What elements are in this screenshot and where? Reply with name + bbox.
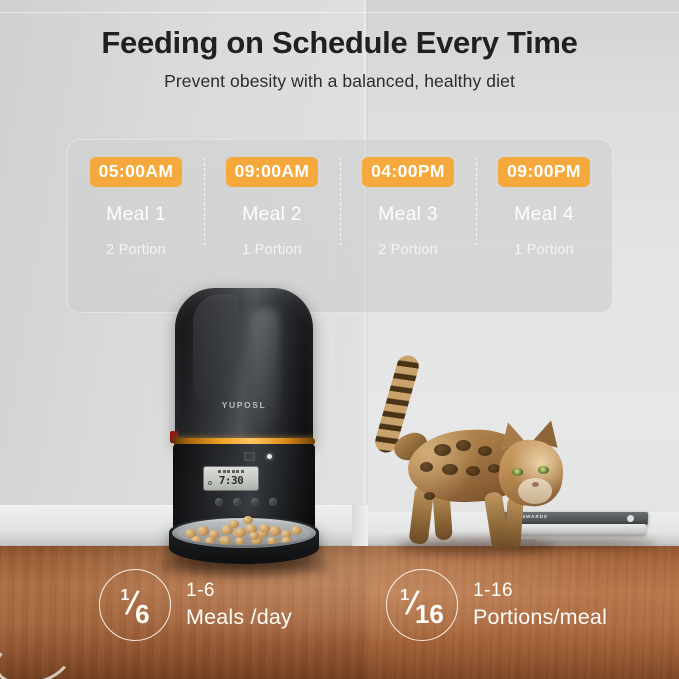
feature-text: 1-16 Portions/meal: [473, 579, 607, 630]
cat-spot: [420, 462, 433, 472]
portion-label: 1 Portion: [514, 242, 574, 258]
schedule-column-2: 09:00AM Meal 2 1 Portion: [204, 140, 340, 312]
page-subtitle: Prevent obesity with a balanced, healthy…: [0, 71, 679, 92]
feature-meals-per-day: 1 / 6 1-6 Meals /day: [99, 569, 292, 641]
time-badge: 05:00AM: [90, 157, 183, 187]
button-set[interactable]: [215, 498, 223, 506]
feature-portions-per-meal: 1 / 16 1-16 Portions/meal: [386, 569, 607, 641]
meal-label: Meal 1: [106, 203, 166, 226]
cat-spot: [442, 464, 458, 475]
feature-range: 1-6: [186, 579, 292, 602]
kibble-falling: [229, 520, 239, 528]
schedule-column-1: 05:00AM Meal 1 2 Portion: [68, 140, 204, 312]
cat-nose: [532, 482, 539, 487]
cat-eye-right: [538, 466, 549, 474]
portion-label: 2 Portion: [378, 242, 438, 258]
kibble-falling: [235, 528, 246, 537]
lcd-time-value: 7:30: [219, 474, 244, 487]
control-buttons[interactable]: [215, 498, 277, 506]
lcd-display: 7:30: [203, 466, 259, 491]
status-led-icon: [267, 454, 272, 459]
feature-unit: Portions/meal: [473, 604, 607, 630]
header: Feeding on Schedule Every Time Prevent o…: [0, 26, 679, 92]
cat-eye-left: [512, 468, 523, 476]
bengal-cat: [372, 352, 602, 564]
fraction: 1 / 6: [100, 570, 170, 640]
portion-label: 1 Portion: [242, 242, 302, 258]
fraction-circle: 1 / 6: [99, 569, 171, 641]
product-marketing-image: Feeding on Schedule Every Time Prevent o…: [0, 0, 679, 679]
meal-label: Meal 2: [242, 203, 302, 226]
baseboard-corner: [352, 505, 368, 546]
cat-spot: [456, 440, 471, 451]
cat-spot: [478, 446, 492, 456]
top-hairline: [0, 12, 679, 13]
page-title: Feeding on Schedule Every Time: [0, 26, 679, 60]
ir-sensor-icon: [244, 452, 255, 461]
button-plus[interactable]: [251, 498, 259, 506]
fraction-denominator: 16: [415, 599, 444, 630]
meal-label: Meal 3: [378, 203, 438, 226]
feature-text: 1-6 Meals /day: [186, 579, 292, 630]
feeder-hopper-lid: YUPOSL: [175, 288, 313, 444]
cat-spot: [434, 444, 451, 456]
lcd-segment-indicators: [218, 470, 244, 473]
fraction-denominator: 6: [135, 599, 149, 630]
kibble-falling: [243, 516, 253, 524]
schedule-column-3: 04:00PM Meal 3 2 Portion: [340, 140, 476, 312]
feature-range: 1-16: [473, 579, 607, 602]
cat-spot: [466, 466, 480, 476]
cat-spot: [424, 492, 435, 500]
book-dot-icon: [627, 515, 634, 522]
time-badge: 09:00PM: [498, 157, 590, 187]
time-badge: 04:00PM: [362, 157, 454, 187]
lid-highlight: [253, 308, 279, 428]
schedule-column-4: 09:00PM Meal 4 1 Portion: [476, 140, 612, 312]
automatic-pet-feeder: YUPOSL 7:30: [163, 288, 325, 570]
portion-label: 2 Portion: [106, 242, 166, 258]
button-minus[interactable]: [233, 498, 241, 506]
fraction-circle: 1 / 16: [386, 569, 458, 641]
fraction: 1 / 16: [387, 570, 457, 640]
lcd-alarm-icon: [208, 481, 212, 485]
feeding-schedule-card: 05:00AM Meal 1 2 Portion 09:00AM Meal 2 …: [67, 139, 613, 313]
time-badge: 09:00AM: [226, 157, 319, 187]
brand-logo: YUPOSL: [175, 400, 313, 410]
feature-unit: Meals /day: [186, 604, 292, 630]
kibble-falling: [249, 532, 259, 540]
kibble-falling: [259, 524, 270, 533]
kibble-falling: [221, 536, 231, 545]
meal-label: Meal 4: [514, 203, 574, 226]
button-feed[interactable]: [269, 498, 277, 506]
